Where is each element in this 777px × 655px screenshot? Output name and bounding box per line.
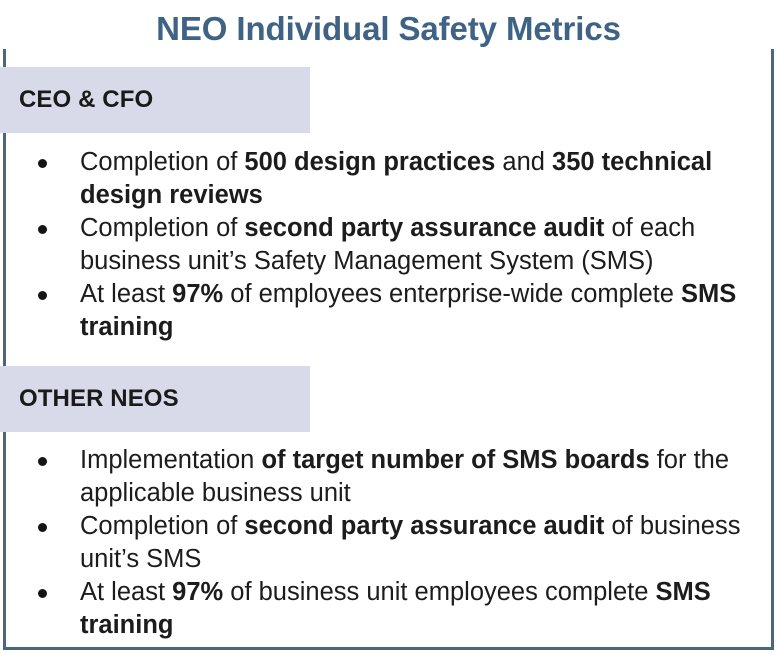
bullet-text: Completion of second party assurance aud…: [80, 512, 740, 573]
section-spacer: [0, 344, 777, 366]
section-header-band-1: OTHER NEOS: [0, 366, 310, 432]
bullet-plain: At least: [80, 578, 172, 606]
bullet-emphasis: 97%: [172, 280, 223, 308]
bullet-plain: Completion of: [80, 148, 244, 176]
frame-bottom-rule: [3, 647, 774, 650]
section-header-band-0: CEO & CFO: [0, 67, 310, 133]
bullet-text: Completion of 500 design practices and 3…: [80, 148, 712, 209]
bullet-emphasis: second party assurance audit: [244, 214, 604, 242]
bullet-list-0: Completion of 500 design practices and 3…: [0, 133, 777, 344]
bullet-text: Implementation of target number of SMS b…: [80, 446, 729, 507]
bullet-emphasis: of target number of SMS boards: [261, 446, 649, 474]
bullet-text: At least 97% of business unit employees …: [80, 578, 711, 639]
bullet-item: Implementation of target number of SMS b…: [0, 444, 777, 510]
bullet-emphasis: 500 design practices: [244, 148, 495, 176]
bullet-item: At least 97% of business unit employees …: [0, 576, 777, 642]
bullet-dot-icon: [38, 225, 47, 234]
bullet-text: At least 97% of employees enterprise-wid…: [80, 280, 736, 341]
bullet-item: Completion of 500 design practices and 3…: [0, 146, 777, 212]
bullet-dot-icon: [38, 457, 47, 466]
bullet-plain: Completion of: [80, 214, 244, 242]
bullet-item: Completion of second party assurance aud…: [0, 510, 777, 576]
bullet-emphasis: second party assurance audit: [244, 512, 604, 540]
bullet-list-1: Implementation of target number of SMS b…: [0, 432, 777, 642]
bullet-item: At least 97% of employees enterprise-wid…: [0, 278, 777, 344]
bullet-plain: Completion of: [80, 512, 244, 540]
section-heading-label: CEO & CFO: [19, 86, 153, 114]
bullet-plain: of business unit employees complete: [223, 578, 655, 606]
bullet-plain: and: [495, 148, 552, 176]
bullet-plain: At least: [80, 280, 172, 308]
bullet-plain: of employees enterprise-wide complete: [223, 280, 681, 308]
bullet-item: Completion of second party assurance aud…: [0, 212, 777, 278]
bullet-text: Completion of second party assurance aud…: [80, 214, 695, 275]
section-heading-label: OTHER NEOS: [19, 385, 179, 413]
bullet-emphasis: 97%: [172, 578, 223, 606]
content-area: CEO & CFO Completion of 500 design pract…: [0, 67, 777, 642]
bullet-dot-icon: [38, 159, 47, 168]
bullet-dot-icon: [38, 291, 47, 300]
bullet-dot-icon: [38, 523, 47, 532]
page-title: NEO Individual Safety Metrics: [0, 9, 777, 49]
bullet-dot-icon: [38, 589, 47, 598]
bullet-plain: Implementation: [80, 446, 261, 474]
slide-canvas: NEO Individual Safety Metrics CEO & CFO …: [0, 0, 777, 655]
